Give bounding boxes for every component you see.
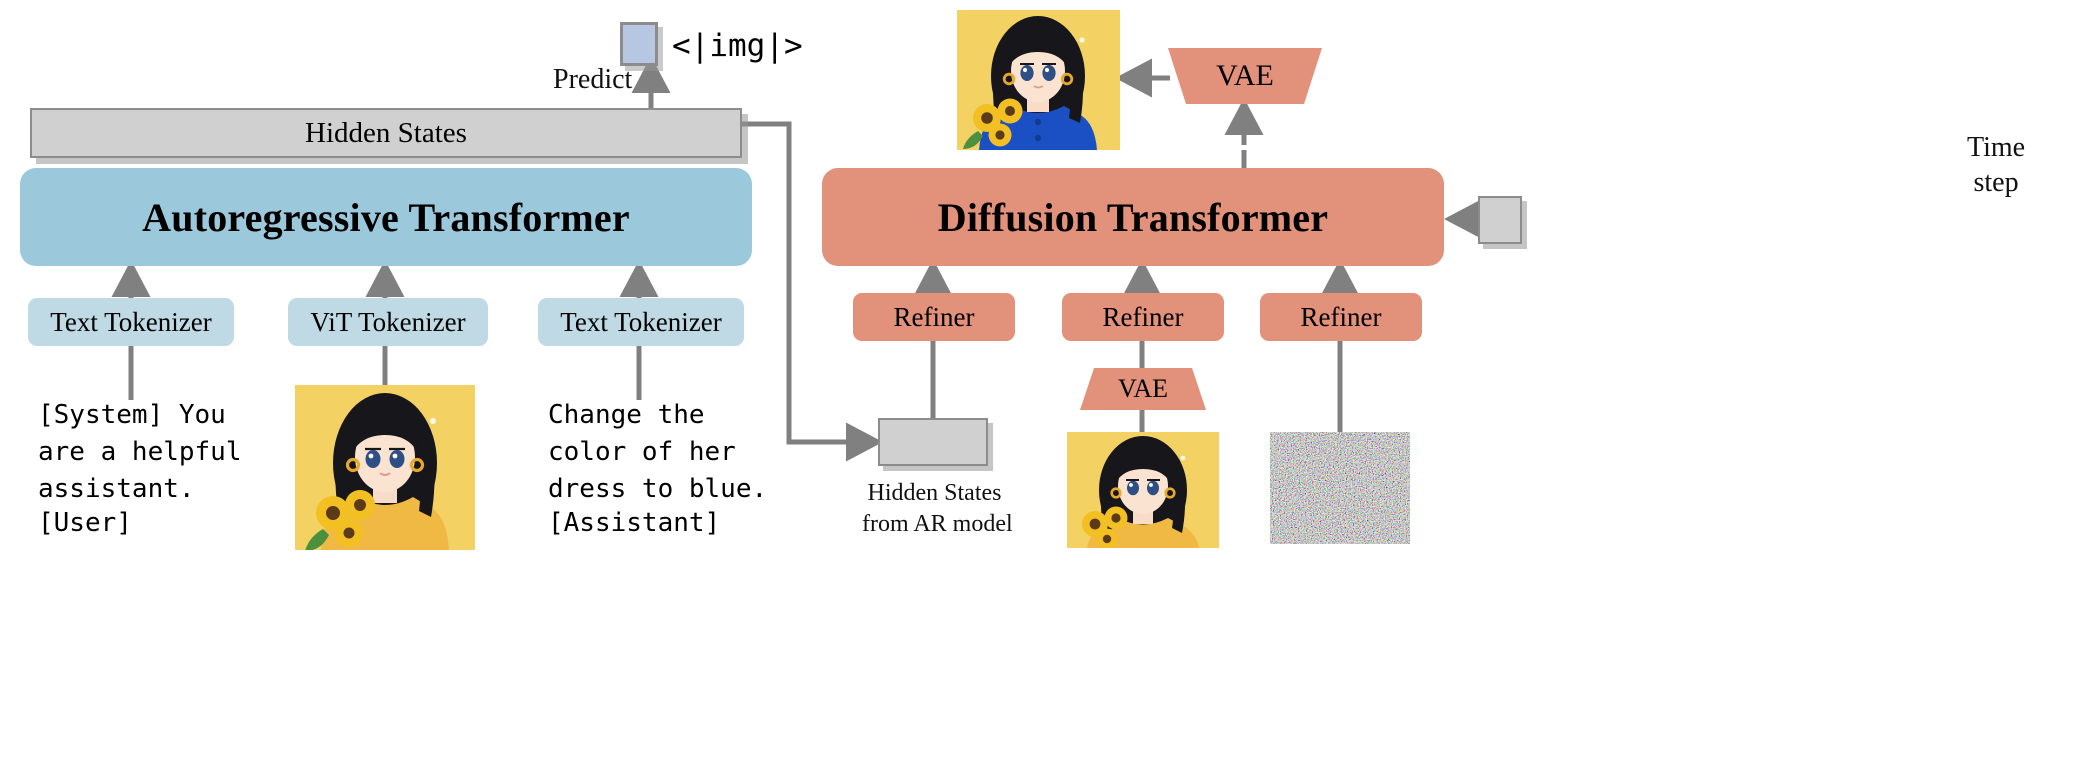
system-prompt-text: [System] You are a helpful assistant. bbox=[38, 397, 242, 508]
time-step-label: Time step bbox=[1967, 130, 2025, 200]
img-token-square bbox=[620, 22, 658, 66]
architecture-diagram: <|img|> Predict Hidden States Autoregres… bbox=[0, 0, 2090, 758]
autoregressive-transformer-block: Autoregressive Transformer bbox=[20, 168, 752, 266]
text-tokenizer-2: Text Tokenizer bbox=[538, 298, 744, 346]
assistant-tag-text: [Assistant] bbox=[548, 505, 720, 542]
img-token-label: <|img|> bbox=[672, 24, 803, 68]
output-image-blue-dress bbox=[957, 10, 1120, 150]
text-tokenizer-1-label: Text Tokenizer bbox=[50, 307, 211, 338]
vae-encoder-label: VAE bbox=[1080, 368, 1206, 410]
refiner-2: Refiner bbox=[1062, 293, 1224, 341]
diffusion-transformer-block: Diffusion Transformer bbox=[822, 168, 1444, 266]
hidden-states-from-ar-label: Hidden States from AR model bbox=[862, 478, 1007, 540]
user-tag-text: [User] bbox=[38, 505, 132, 542]
vae-encoder-block: VAE bbox=[1080, 368, 1206, 410]
vit-tokenizer: ViT Tokenizer bbox=[288, 298, 488, 346]
refiner-2-label: Refiner bbox=[1103, 302, 1184, 333]
predict-label: Predict bbox=[553, 64, 632, 96]
diffusion-transformer-label: Diffusion Transformer bbox=[938, 194, 1328, 241]
text-tokenizer-1: Text Tokenizer bbox=[28, 298, 234, 346]
hidden-states-label: Hidden States bbox=[305, 117, 467, 150]
vae-decoder-block: VAE bbox=[1168, 48, 1322, 104]
refiner-1: Refiner bbox=[853, 293, 1015, 341]
input-image-yellow-dress bbox=[295, 385, 475, 550]
hidden-states-block: Hidden States bbox=[30, 108, 742, 158]
vae-decoder-label: VAE bbox=[1168, 48, 1322, 104]
refiner-3-label: Refiner bbox=[1301, 302, 1382, 333]
time-step-block bbox=[1478, 196, 1522, 244]
hidden-states-from-ar-block bbox=[878, 418, 988, 466]
autoregressive-transformer-label: Autoregressive Transformer bbox=[142, 194, 630, 241]
refiner-1-label: Refiner bbox=[894, 302, 975, 333]
text-tokenizer-2-label: Text Tokenizer bbox=[560, 307, 721, 338]
noise-latent-image bbox=[1270, 432, 1410, 544]
refiner-3: Refiner bbox=[1260, 293, 1422, 341]
vit-tokenizer-label: ViT Tokenizer bbox=[310, 307, 465, 338]
reference-image-yellow-dress bbox=[1067, 432, 1219, 548]
user-instruction-text: Change the color of her dress to blue. bbox=[548, 397, 767, 508]
